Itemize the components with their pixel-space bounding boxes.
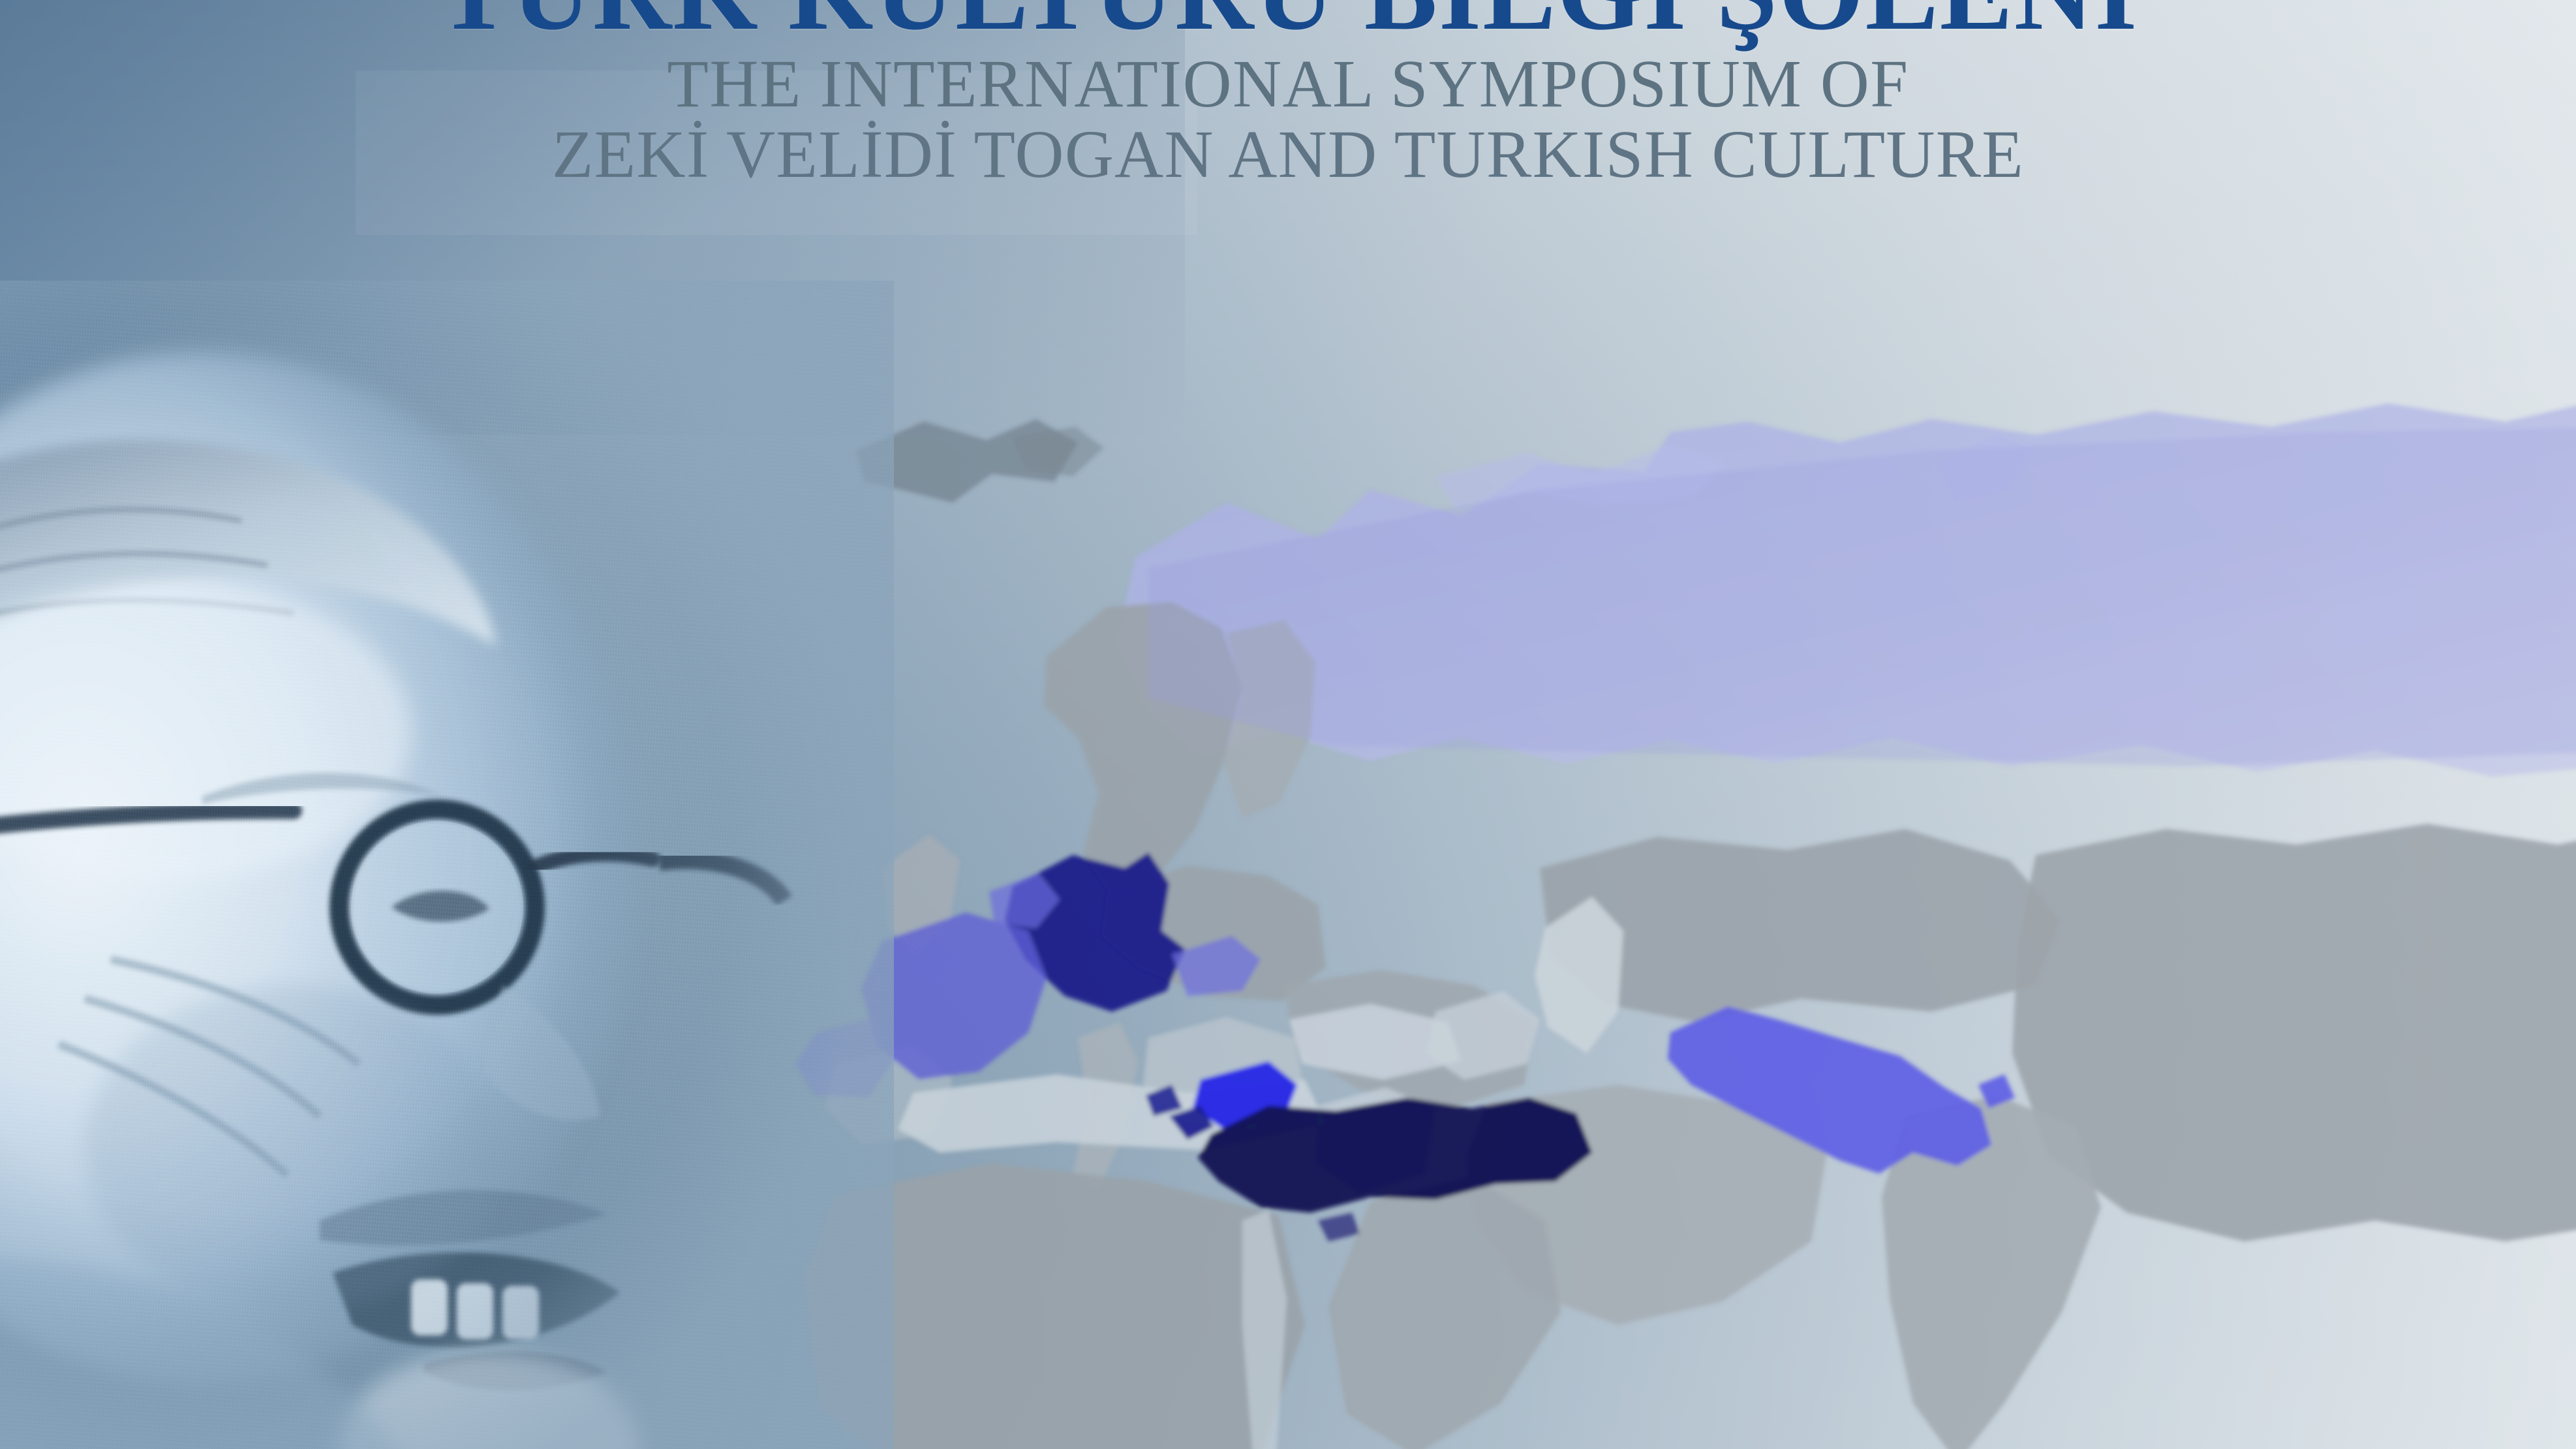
- poster-title-block: TÜRK KÜLTÜRÜ BİLGİ ŞÖLENİ THE INTERNATIO…: [0, 0, 2576, 215]
- map-region-china-mongolia: [2012, 824, 2576, 1241]
- poster-subtitle-line-2: ZEKİ VELİDİ TOGAN AND TURKISH CULTURE: [0, 121, 2576, 189]
- portrait-zeki-velidi-togan: [0, 281, 894, 1449]
- poster-subtitle-line-1: THE INTERNATIONAL SYMPOSIUM OF: [0, 50, 2576, 118]
- map-highlight-russia-tint: [1148, 427, 2576, 766]
- portrait-vignette: [0, 281, 894, 1449]
- poster-canvas: TÜRK KÜLTÜRÜ BİLGİ ŞÖLENİ THE INTERNATIO…: [0, 0, 2576, 1449]
- world-map-graphic: [757, 307, 2576, 1449]
- poster-title-turkish: TÜRK KÜLTÜRÜ BİLGİ ŞÖLENİ: [0, 0, 2576, 32]
- map-region-arabian-peninsula: [1328, 1176, 1561, 1449]
- map-highlight-cyprus: [1318, 1213, 1360, 1241]
